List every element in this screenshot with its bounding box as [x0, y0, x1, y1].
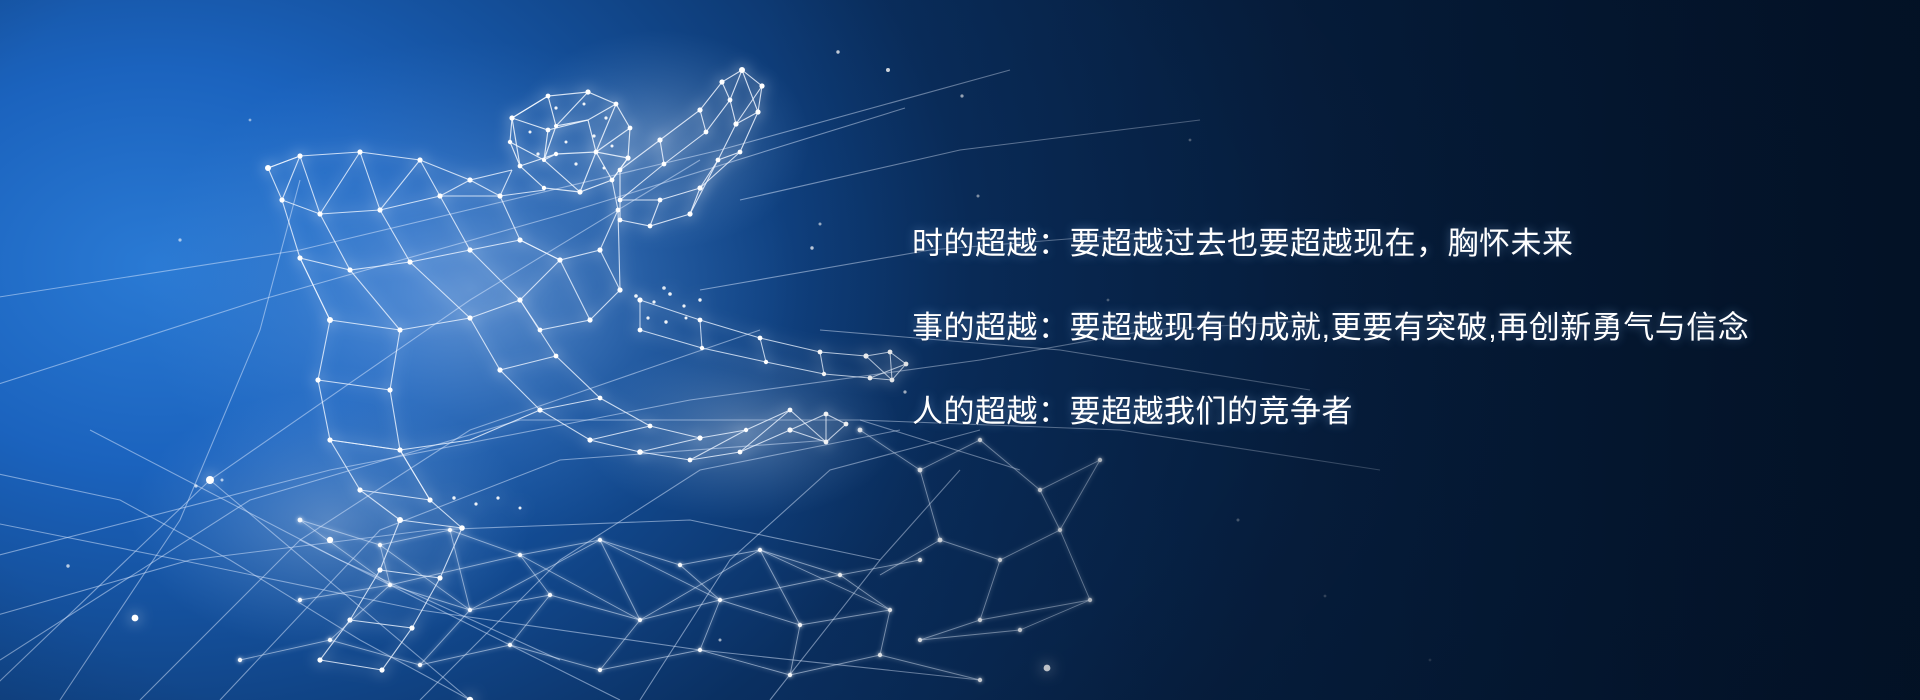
slogan-line-time: 时的超越：要超越过去也要超越现在，胸怀未来 [912, 228, 1792, 259]
slogan-line-matter: 事的超越：要超越现有的成就,更要有突破,再创新勇气与信念 [912, 312, 1792, 343]
slogan-line-people: 人的超越：要超越我们的竞争者 [912, 396, 1792, 427]
banner-hero: 时的超越：要超越过去也要超越现在，胸怀未来 事的超越：要超越现有的成就,更要有突… [0, 0, 1920, 700]
slogan-text-block: 时的超越：要超越过去也要超越现在，胸怀未来 事的超越：要超越现有的成就,更要有突… [912, 228, 1792, 427]
